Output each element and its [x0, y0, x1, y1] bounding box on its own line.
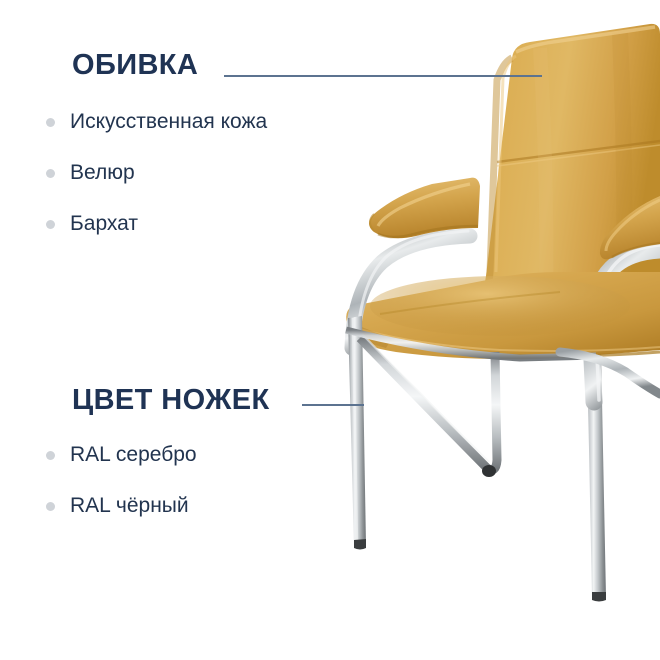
bullet-icon	[46, 220, 55, 229]
list-item-label: Велюр	[70, 161, 135, 184]
section-heading-leg-color: ЦВЕТ НОЖЕК	[0, 383, 340, 417]
list-item-label: RAL чёрный	[70, 494, 189, 517]
list-item-label: Бархат	[70, 212, 138, 235]
option-list-leg-color: RAL серебро RAL чёрный	[0, 442, 340, 519]
bullet-icon	[46, 169, 55, 178]
option-list-upholstery: Искусственная кожа Велюр Бархат	[0, 109, 340, 237]
list-item[interactable]: RAL серебро	[0, 442, 340, 468]
infographic-canvas: ОБИВКА Искусственная кожа Велюр Бархат Ц…	[0, 0, 660, 660]
leader-line-upholstery	[224, 75, 542, 77]
chair-seat	[346, 272, 660, 359]
list-item[interactable]: Бархат	[0, 211, 340, 237]
bullet-icon	[46, 118, 55, 127]
list-item[interactable]: RAL чёрный	[0, 493, 340, 519]
list-item-label: RAL серебро	[70, 443, 197, 466]
section-leg-color: ЦВЕТ НОЖЕК RAL серебро RAL чёрный	[0, 383, 340, 544]
leader-line-leg-color	[302, 404, 364, 406]
list-item-label: Искусственная кожа	[70, 110, 267, 133]
list-item[interactable]: Велюр	[0, 160, 340, 186]
spec-panel: ОБИВКА Искусственная кожа Велюр Бархат Ц…	[0, 0, 340, 660]
section-upholstery: ОБИВКА Искусственная кожа Велюр Бархат	[0, 48, 340, 262]
list-item[interactable]: Искусственная кожа	[0, 109, 340, 135]
chair-leg-front-left	[348, 316, 366, 550]
bullet-icon	[46, 502, 55, 511]
bullet-icon	[46, 451, 55, 460]
